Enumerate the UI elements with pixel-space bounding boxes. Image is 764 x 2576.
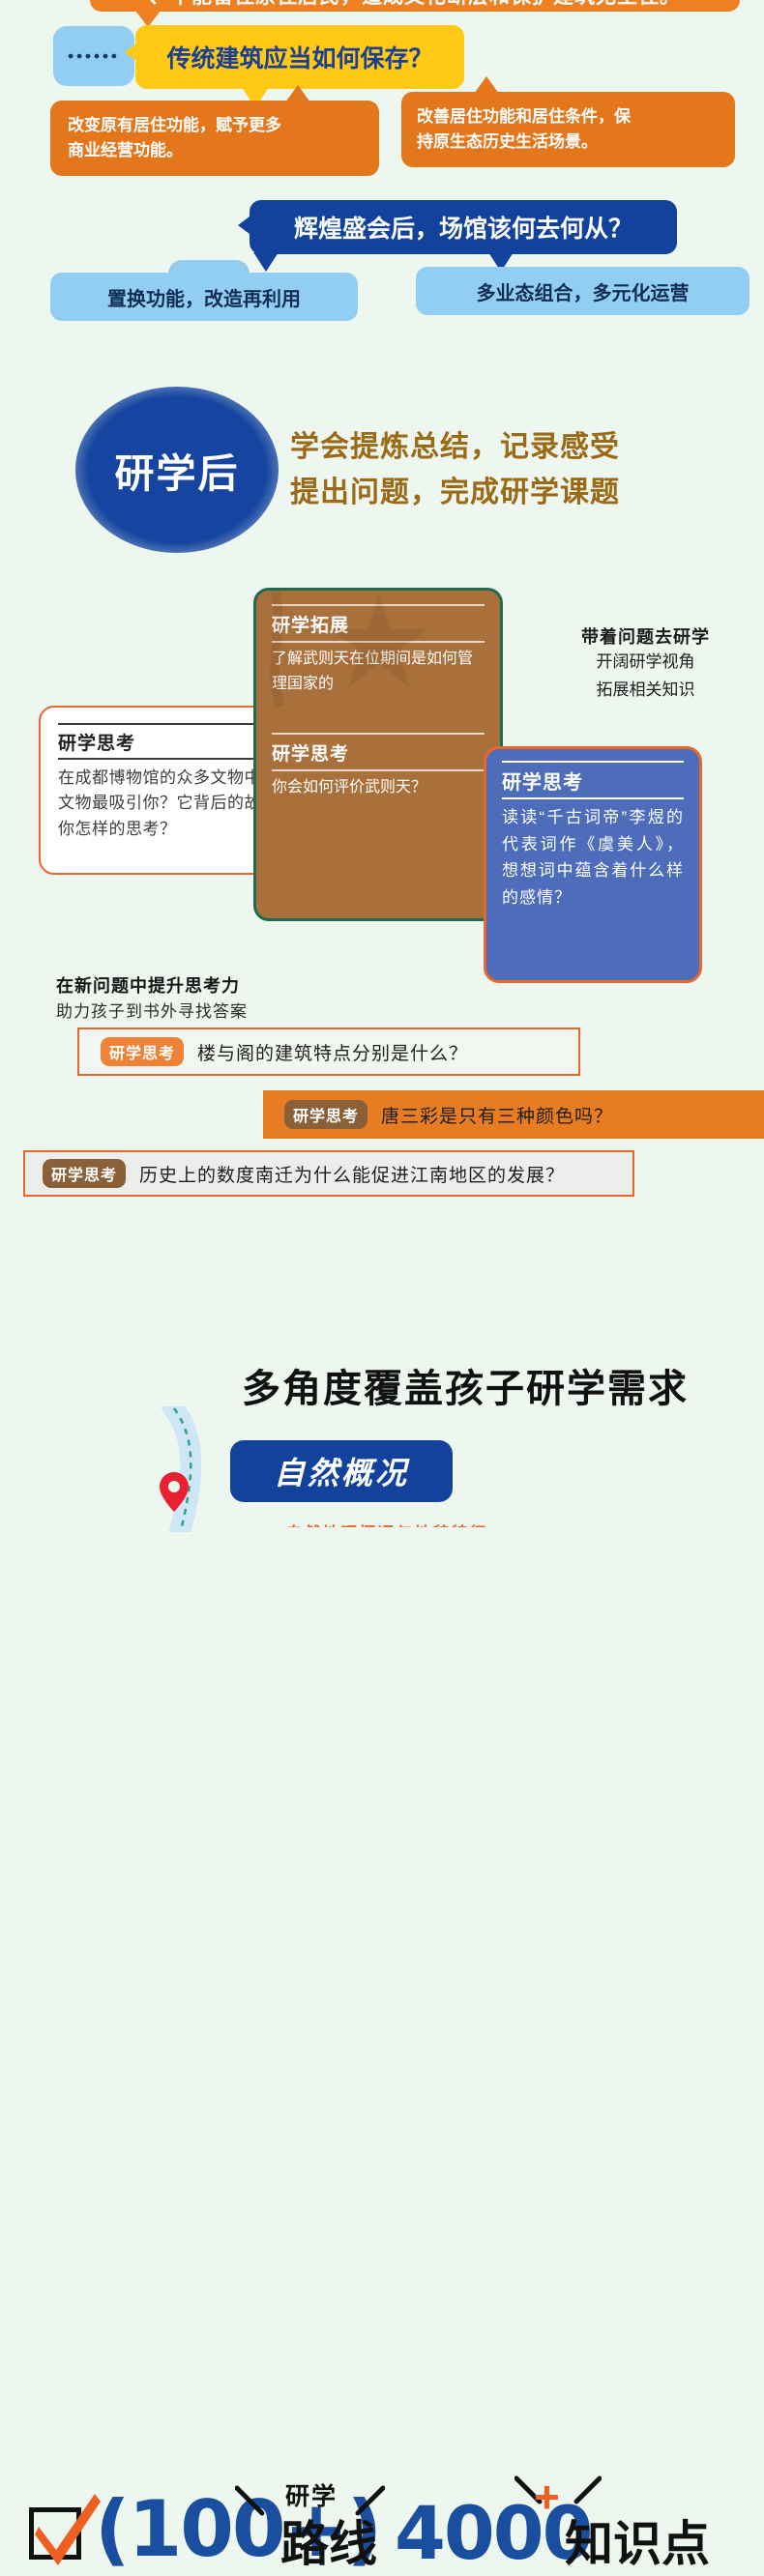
section-subtitle-line1: 学会提炼总结，记录感受: [290, 425, 716, 471]
question-pill-2[interactable]: 研学思考 唐三彩是只有三种颜色吗？: [263, 1090, 764, 1139]
right-note-title: 带着问题去研学: [542, 623, 749, 649]
knowledge-word: 知识点: [565, 2505, 710, 2575]
answer-bubble-1-tail-icon: [285, 85, 310, 102]
question-bubble-2-text: 辉煌盛会后，场馆该何去何从？: [294, 210, 632, 245]
study-card-brown[interactable]: 研学拓展 了解武则天在位期间是如何管理国家的 研学思考 你会如何评价武则天？: [253, 588, 503, 921]
right-note-line2: 拓展相关知识: [542, 677, 749, 705]
ellipsis-bubble-1: ••••••: [53, 26, 134, 86]
knowledge-count: 4000: [395, 2490, 592, 2576]
footer-category-badge[interactable]: 自然概况: [230, 1440, 453, 1502]
answer-bubble-2-line2: 持原生态历史生活场景。: [417, 130, 598, 155]
footer-category-badge-label: 自然概况: [274, 1449, 409, 1493]
question-pill-1[interactable]: 研学思考 楼与阁的建筑特点分别是什么？: [77, 1028, 580, 1076]
answer-bubble-3[interactable]: 置换功能，改造再利用: [50, 273, 358, 321]
answer-bubble-1-line1: 改变原有居住功能，赋予更多: [68, 113, 281, 138]
answer-bubble-3-text: 置换功能，改造再利用: [107, 283, 301, 311]
question-pill-1-text: 楼与阁的建筑特点分别是什么？: [197, 1039, 468, 1065]
stats-row: (100+) 研学 路线 4000 + 知识点: [0, 1239, 764, 1355]
card-blue-rule-top: [502, 761, 684, 763]
card-blue-body: 读读“千古词帝”李煜的代表词作《虞美人》，想想词中蕴含着什么样的感情？: [502, 804, 684, 911]
plus-mark: +: [534, 2471, 560, 2523]
answer-bubble-2-tail-icon: [474, 76, 499, 94]
cut-off-footer-text: 自然地理概况与地貌特征: [160, 1520, 614, 1527]
card-brown-rule-1: [272, 604, 485, 606]
answer-bubble-4-text: 多业态组合，多元化运营: [477, 277, 690, 305]
question-pill-3-tag: 研学思考: [43, 1159, 126, 1188]
card-blue-rule-bottom: [502, 797, 684, 799]
slash-right-2-icon: [573, 2475, 602, 2505]
question-bubble-venues[interactable]: 辉煌盛会后，场馆该何去何从？: [250, 200, 677, 254]
card-brown-rule-2: [272, 641, 485, 643]
cut-off-orange-banner: 、不能留住原住居民，造成文化断层和保护建筑无主住。: [90, 0, 740, 12]
study-card-blue[interactable]: 研学思考 读读“千古词帝”李煜的代表词作《虞美人》，想想词中蕴含着什么样的感情？: [484, 746, 702, 983]
answer-bubble-2-line1: 改善居住功能和居住条件，保: [417, 104, 631, 130]
question-pill-1-tag: 研学思考: [101, 1037, 184, 1066]
section-badge-label: 研学后: [115, 441, 240, 499]
answer-bubble-1[interactable]: 改变原有居住功能，赋予更多 商业经营功能。: [50, 101, 379, 176]
route-word: 路线: [280, 2505, 377, 2575]
check-mark-icon: [35, 2490, 103, 2567]
question-bubble-1-left-tail-icon: [125, 41, 140, 64]
question-bubble-2-bottom-tail-icon: [253, 252, 279, 272]
right-side-note: 带着问题去研学 开阔研学视角 拓展相关知识: [542, 623, 749, 705]
answer-bubble-2[interactable]: 改善居住功能和居住条件，保 持原生态历史生活场景。: [401, 92, 735, 167]
card-blue-header: 研学思考: [502, 767, 684, 795]
question-pill-2-text: 唐三彩是只有三种颜色吗？: [381, 1102, 613, 1128]
card-brown-rule-4: [272, 769, 485, 771]
stats-subheading: 多角度覆盖孩子研学需求: [242, 1357, 689, 1413]
card-brown-header-1: 研学拓展: [272, 611, 485, 637]
card-brown-rule-3: [272, 733, 485, 735]
question-pill-2-tag: 研学思考: [284, 1100, 367, 1129]
infographic-page: 、不能留住原住居民，造成文化断层和保护建筑无主住。 •••••• 传统建筑应当如…: [0, 0, 764, 1527]
question-pill-3[interactable]: 研学思考 历史上的数度南迁为什么能促进江南地区的发展？: [23, 1150, 634, 1197]
section-badge-after-study: 研学后: [75, 387, 279, 553]
answer-bubble-4[interactable]: 多业态组合，多元化运营: [416, 267, 749, 315]
card-brown-body-1: 了解武则天在位期间是如何管理国家的: [272, 647, 485, 696]
question-bubble-1-text: 传统建筑应当如何保存？: [166, 40, 432, 74]
answer-bubble-1-line2: 商业经营功能。: [68, 138, 183, 163]
question-bubble-traditional-architecture[interactable]: 传统建筑应当如何保存？: [135, 25, 464, 89]
right-note-line1: 开阔研学视角: [542, 649, 749, 677]
cut-off-banner-text: 、不能留住原住居民，造成文化断层和保护建筑无主住。: [149, 0, 681, 10]
lower-heading-subtitle: 助力孩子到书外寻找答案: [56, 998, 248, 1022]
section-subtitle-line2: 提出问题，完成研学课题: [290, 471, 716, 516]
lower-heading-title: 在新问题中提升思考力: [56, 972, 240, 998]
question-bubble-2-left-tail-icon: [238, 214, 253, 237]
section-subtitle: 学会提炼总结，记录感受 提出问题，完成研学课题: [290, 425, 716, 515]
card-brown-header-2: 研学思考: [272, 739, 485, 766]
ellipsis-dots-1: ••••••: [53, 48, 134, 65]
question-pill-3-text: 历史上的数度南迁为什么能促进江南地区的发展？: [139, 1161, 565, 1187]
card-brown-body-2: 你会如何评价武则天？: [272, 775, 485, 800]
